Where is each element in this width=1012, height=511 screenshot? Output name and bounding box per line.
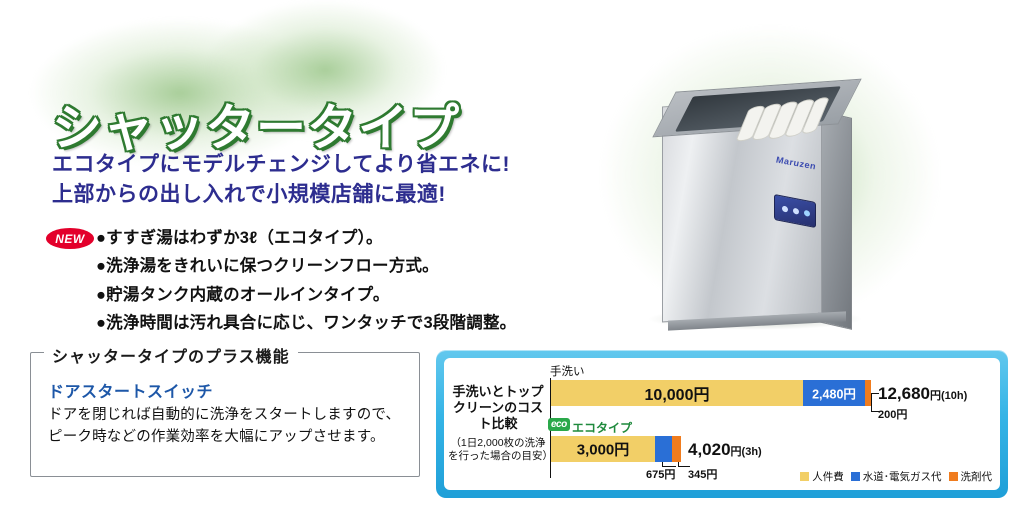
bar-value-label: 2,480円 bbox=[812, 384, 856, 403]
total-value: 4,020 bbox=[688, 440, 731, 459]
leader-line bbox=[871, 393, 872, 411]
plus-feature-body-line-1: ドアを閉じれば自動的に洗浄をスタートしますので、 bbox=[48, 404, 400, 426]
bar-segment-labor-2: 3,000円 bbox=[551, 436, 655, 462]
panel-button-icon bbox=[793, 208, 799, 215]
new-badge: NEW bbox=[46, 228, 94, 249]
chart-subtitle: （1日2,000枚の洗浄を行った場合の目安） bbox=[448, 437, 548, 464]
chart-legend: 人件費 水道･電気ガス代 洗剤代 bbox=[800, 469, 992, 484]
subheadline-line-2: 上部からの出し入れで小規模店舗に最適! bbox=[52, 180, 510, 210]
machine-side-panel bbox=[818, 110, 852, 330]
subheadline: エコタイプにモデルチェンジしてより省エネに! 上部からの出し入れで小規模店舗に最… bbox=[52, 150, 510, 211]
list-item: ●貯湯タンク内蔵のオールインタイプ。 bbox=[96, 281, 516, 309]
subheadline-line-1: エコタイプにモデルチェンジしてより省エネに! bbox=[52, 150, 510, 180]
total-unit: 円 bbox=[731, 446, 742, 458]
total-note: (10h) bbox=[941, 390, 967, 402]
cost-comparison-panel: 手洗いとトップクリーンのコスト比較 （1日2,000枚の洗浄を行った場合の目安）… bbox=[436, 350, 1008, 498]
total-note: (3h) bbox=[742, 446, 762, 458]
chart-title-block: 手洗いとトップクリーンのコスト比較 （1日2,000枚の洗浄を行った場合の目安） bbox=[448, 362, 548, 486]
bar-segment-utility-1: 2,480円 bbox=[803, 380, 865, 406]
bar-segment-detergent-2 bbox=[672, 436, 681, 462]
list-item: ●洗浄時間は汚れ具合に応じ、ワンタッチで3段階調整。 bbox=[96, 309, 516, 337]
legend-item-labor: 人件費 bbox=[800, 469, 844, 484]
chart-total-2: 4,020円(3h) bbox=[688, 440, 762, 460]
panel-indicator-icon bbox=[804, 210, 810, 217]
chart-category-label-1: 手洗い bbox=[550, 363, 585, 379]
legend-label: 水道･電気ガス代 bbox=[863, 469, 942, 484]
feature-bullet-list: ●すすぎ湯はわずか3ℓ（エコタイプ）。 ●洗浄湯をきれいに保つクリーンフロー方式… bbox=[96, 224, 516, 338]
list-item: ●すすぎ湯はわずか3ℓ（エコタイプ）。 bbox=[96, 224, 516, 252]
product-photo: Maruzen bbox=[640, 30, 920, 330]
dishwasher-illustration: Maruzen bbox=[662, 80, 852, 320]
panel-button-icon bbox=[782, 205, 788, 212]
total-unit: 円 bbox=[930, 390, 941, 402]
legend-swatch-icon bbox=[800, 472, 809, 481]
list-item: ●洗浄湯をきれいに保つクリーンフロー方式。 bbox=[96, 252, 516, 280]
callout-utility-2: 675円 bbox=[646, 466, 675, 482]
plus-feature-body: ドアを閉じれば自動的に洗浄をスタートしますので、 ピーク時などの作業効率を大幅に… bbox=[48, 404, 400, 449]
chart-plot-area: 手洗い 10,000円 2,480円 12,680円(10h) 200円 eco… bbox=[548, 362, 996, 486]
legend-item-detergent: 洗剤代 bbox=[949, 469, 993, 484]
legend-swatch-icon bbox=[851, 472, 860, 481]
plus-feature-subtitle: ドアスタートスイッチ bbox=[48, 378, 213, 402]
bar-segment-utility-2 bbox=[655, 436, 672, 462]
legend-swatch-icon bbox=[949, 472, 958, 481]
chart-total-1: 12,680円(10h) bbox=[878, 384, 967, 404]
callout-detergent-1: 200円 bbox=[878, 406, 907, 422]
plus-feature-title: シャッタータイプのプラス機能 bbox=[44, 343, 298, 367]
callout-detergent-2: 345円 bbox=[688, 466, 717, 482]
legend-label: 洗剤代 bbox=[961, 469, 993, 484]
eco-icon: eco bbox=[548, 418, 570, 431]
chart-canvas: 手洗いとトップクリーンのコスト比較 （1日2,000枚の洗浄を行った場合の目安）… bbox=[444, 358, 1000, 490]
legend-item-utility: 水道･電気ガス代 bbox=[851, 469, 942, 484]
bar-segment-labor-1: 10,000円 bbox=[551, 380, 803, 406]
chart-category-label-2: エコタイプ bbox=[572, 419, 632, 436]
legend-label: 人件費 bbox=[812, 469, 844, 484]
plus-feature-body-line-2: ピーク時などの作業効率を大幅にアップさせます。 bbox=[48, 426, 400, 448]
bar-value-label: 3,000円 bbox=[577, 439, 630, 460]
total-value: 12,680 bbox=[878, 384, 930, 403]
bar-value-label: 10,000円 bbox=[645, 381, 710, 405]
chart-title: 手洗いとトップクリーンのコスト比較 bbox=[448, 384, 548, 433]
